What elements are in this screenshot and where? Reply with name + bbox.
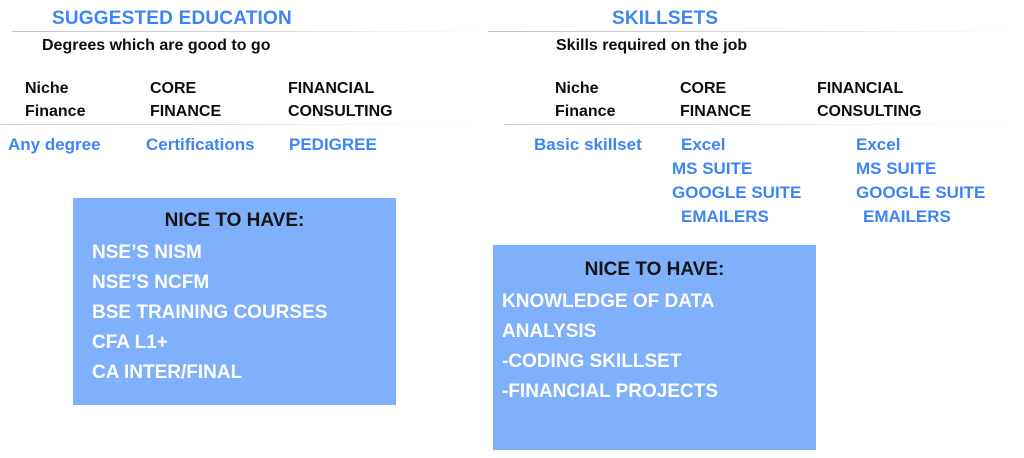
education-title-divider bbox=[12, 31, 485, 32]
education-columns-divider bbox=[0, 124, 478, 125]
education-nice-to-have-box: NICE TO HAVE: NSE’S NISM NSE’S NCFM BSE … bbox=[73, 198, 396, 405]
skillsets-nice-to-have-box: NICE TO HAVE: KNOWLEDGE OF DATA ANALYSIS… bbox=[493, 245, 816, 450]
education-column-items-niche-finance: Any degree bbox=[8, 133, 101, 157]
list-item[interactable]: Excel bbox=[856, 133, 985, 157]
column-header-line2: FINANCE bbox=[150, 100, 221, 123]
column-header-line2: CONSULTING bbox=[288, 100, 393, 123]
list-item[interactable]: Excel bbox=[672, 133, 801, 157]
column-header-line2: Finance bbox=[25, 100, 85, 123]
list-item[interactable]: GOOGLE SUITE bbox=[856, 181, 985, 205]
list-item[interactable]: MS SUITE bbox=[856, 157, 985, 181]
list-item: NSE’S NCFM bbox=[92, 268, 396, 298]
education-column-items-core-finance: Certifications bbox=[146, 133, 255, 157]
list-item[interactable]: EMAILERS bbox=[856, 205, 985, 229]
skillsets-column-header-financial-consulting: FINANCIAL CONSULTING bbox=[817, 77, 922, 123]
panel-suggested-education: SUGGESTED EDUCATION Degrees which are go… bbox=[0, 0, 490, 458]
column-header-line1: FINANCIAL bbox=[288, 77, 393, 100]
panel-skillsets: SKILLSETS Skills required on the job Nic… bbox=[490, 0, 1024, 458]
column-header-line2: FINANCE bbox=[680, 100, 751, 123]
list-item: NSE’S NISM bbox=[92, 238, 396, 268]
education-column-header-core-finance: CORE FINANCE bbox=[150, 77, 221, 123]
callout-list: KNOWLEDGE OF DATA ANALYSIS -CODING SKILL… bbox=[493, 287, 816, 407]
skillsets-column-header-core-finance: CORE FINANCE bbox=[680, 77, 751, 123]
column-header-line1: CORE bbox=[150, 77, 221, 100]
list-item: CA INTER/FINAL bbox=[92, 358, 396, 388]
education-panel-title: SUGGESTED EDUCATION bbox=[52, 8, 292, 30]
list-item: BSE TRAINING COURSES bbox=[92, 298, 396, 328]
column-header-line1: FINANCIAL bbox=[817, 77, 922, 100]
skillsets-column-items-core-finance: Excel MS SUITE GOOGLE SUITE EMAILERS bbox=[672, 133, 801, 229]
education-column-header-financial-consulting: FINANCIAL CONSULTING bbox=[288, 77, 393, 123]
skillsets-panel-title: SKILLSETS bbox=[612, 8, 718, 30]
column-header-line1: CORE bbox=[680, 77, 751, 100]
list-item[interactable]: Certifications bbox=[146, 133, 255, 157]
list-item[interactable]: GOOGLE SUITE bbox=[672, 181, 801, 205]
skillsets-title-divider bbox=[488, 31, 1010, 32]
callout-title: NICE TO HAVE: bbox=[493, 259, 816, 281]
list-item[interactable]: Basic skillset bbox=[534, 133, 642, 157]
skillsets-column-items-niche-finance: Basic skillset bbox=[534, 133, 642, 157]
education-column-header-niche-finance: Niche Finance bbox=[25, 77, 85, 123]
list-item[interactable]: PEDIGREE bbox=[289, 133, 377, 157]
list-item: -CODING SKILLSET bbox=[502, 347, 816, 377]
callout-title: NICE TO HAVE: bbox=[73, 210, 396, 232]
column-header-line2: CONSULTING bbox=[817, 100, 922, 123]
column-header-line1: Niche bbox=[25, 77, 85, 100]
list-item[interactable]: Any degree bbox=[8, 133, 101, 157]
education-subtitle: Degrees which are good to go bbox=[42, 37, 270, 55]
list-item[interactable]: EMAILERS bbox=[672, 205, 801, 229]
list-item: KNOWLEDGE OF DATA bbox=[502, 287, 816, 317]
skillsets-subtitle: Skills required on the job bbox=[556, 37, 747, 55]
list-item: -FINANCIAL PROJECTS bbox=[502, 377, 816, 407]
skillsets-column-header-niche-finance: Niche Finance bbox=[555, 77, 615, 123]
list-item[interactable]: MS SUITE bbox=[672, 157, 801, 181]
callout-list: NSE’S NISM NSE’S NCFM BSE TRAINING COURS… bbox=[73, 238, 396, 388]
list-item: CFA L1+ bbox=[92, 328, 396, 358]
list-item: ANALYSIS bbox=[502, 317, 816, 347]
skillsets-columns-divider bbox=[504, 124, 1014, 125]
skillsets-column-items-financial-consulting: Excel MS SUITE GOOGLE SUITE EMAILERS bbox=[856, 133, 985, 229]
education-column-items-financial-consulting: PEDIGREE bbox=[289, 133, 377, 157]
column-header-line2: Finance bbox=[555, 100, 615, 123]
column-header-line1: Niche bbox=[555, 77, 615, 100]
